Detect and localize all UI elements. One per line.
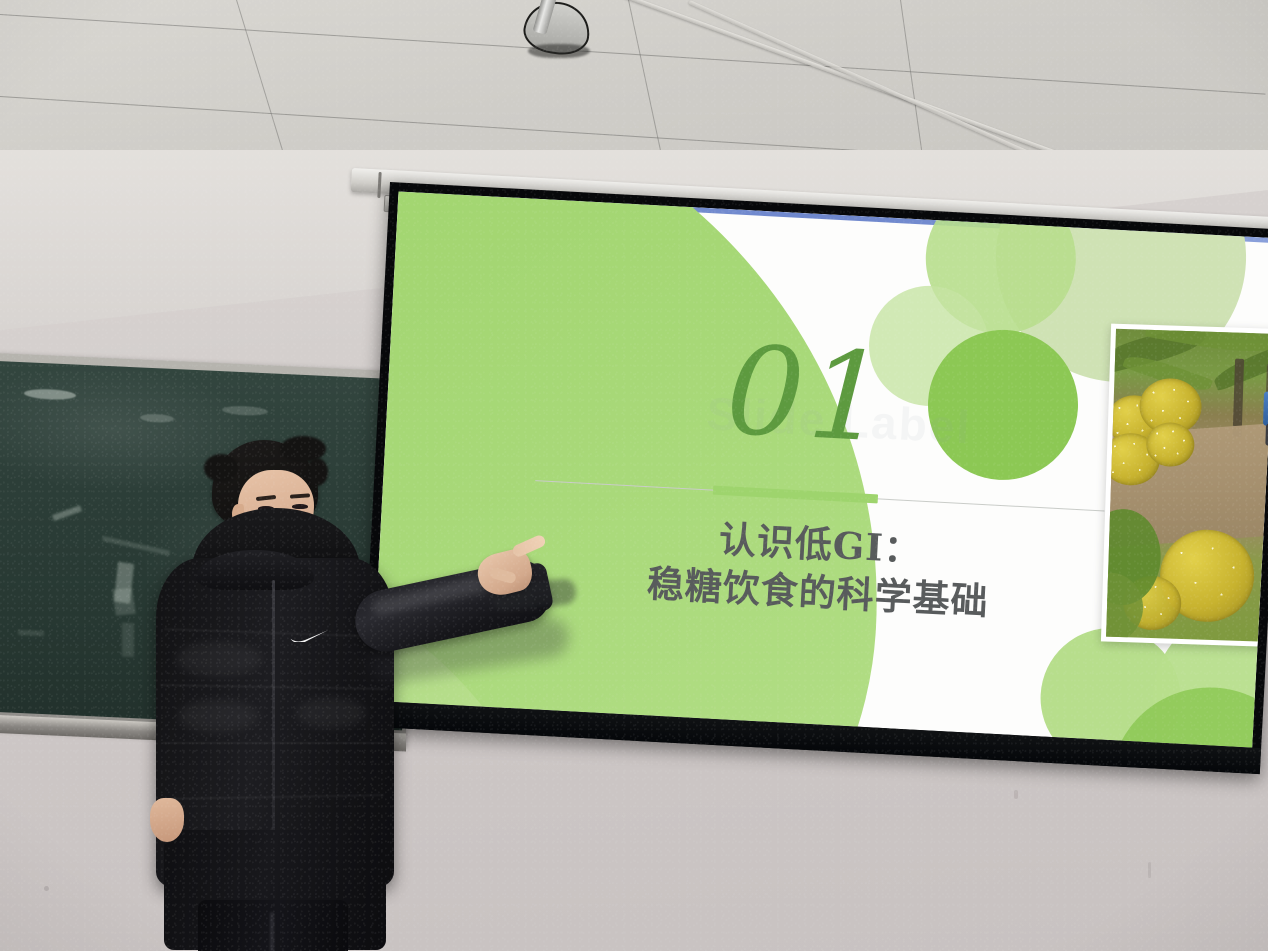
projector-shadow (528, 44, 590, 58)
slide-section-number: 01 (585, 322, 1031, 467)
nike-swoosh-icon (289, 627, 329, 642)
projection-screen: Slide Label 01 认识低GI： 稳糖饮食的科学基础 (361, 182, 1268, 774)
durian-orchard-photo (1106, 329, 1268, 643)
trouser-seam (270, 912, 274, 951)
classroom-photo: Slide Label 01 认识低GI： 稳糖饮食的科学基础 (0, 0, 1268, 951)
resting-hand (150, 798, 184, 842)
photo-person (1263, 392, 1268, 427)
presenter (120, 430, 450, 951)
slide-photo-card (1101, 324, 1268, 648)
